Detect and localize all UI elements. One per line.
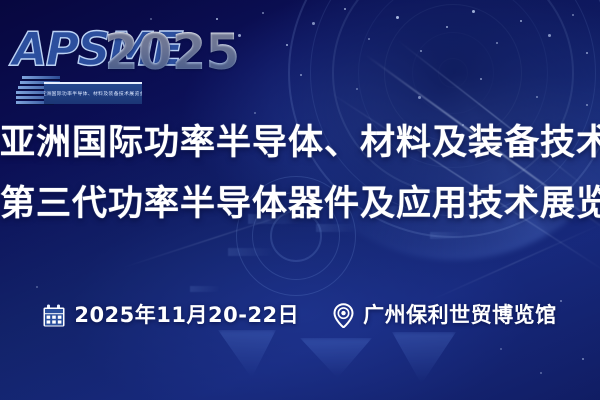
particle: [540, 372, 542, 374]
particle: [356, 88, 358, 90]
glow-wedge: [218, 330, 276, 378]
apsme-logo: APSME 2025 亚洲国际功率半导体、材料及装备技术展览会: [8, 24, 204, 108]
title-group: 亚洲国际功率半导体、材料及装备技术展览会 第三代功率半导体器件及应用技术展览会: [0, 126, 600, 222]
calendar-icon: [43, 304, 65, 327]
circuit-plate: [228, 248, 274, 256]
particle: [520, 20, 522, 22]
particle: [586, 52, 588, 54]
circuit-plate: [316, 224, 356, 232]
particle: [446, 26, 448, 28]
particle: [420, 50, 422, 52]
particle: [300, 74, 302, 76]
particle: [536, 96, 538, 98]
particle: [582, 358, 584, 360]
glow-wedge: [392, 332, 456, 384]
particle: [548, 34, 551, 37]
banner-title-line-2: 第三代功率半导体器件及应用技术展览会: [0, 187, 600, 222]
particle: [254, 112, 256, 114]
particle: [480, 78, 482, 80]
particle: [150, 18, 152, 20]
circuit-plate: [430, 232, 464, 239]
particle: [572, 14, 574, 16]
location-pin-icon: [333, 303, 354, 328]
event-date-item: 2025年11月20-22日: [43, 304, 299, 327]
particle: [36, 286, 38, 288]
logo-subtitle-text: 亚洲国际功率半导体、材料及装备技术展览会: [44, 92, 142, 97]
logo-subtitle-bar: 亚洲国际功率半导体、材料及装备技术展览会: [44, 82, 142, 104]
light-streak: [430, 223, 600, 301]
particle: [586, 104, 588, 106]
particle: [312, 22, 315, 25]
event-venue-item: 广州保利世贸博览馆: [333, 303, 557, 328]
particle: [396, 16, 399, 19]
particle: [216, 18, 218, 20]
particle: [262, 12, 264, 14]
particle: [496, 42, 498, 44]
event-date-text: 2025年11月20-22日: [74, 305, 299, 326]
logo-year: 2025: [104, 27, 239, 77]
event-info-row: 2025年11月20-22日 广州保利世贸博览馆: [0, 303, 600, 328]
particle: [368, 38, 370, 40]
particle: [560, 300, 562, 302]
event-venue-text: 广州保利世贸博览馆: [363, 305, 557, 326]
event-banner: APSME 2025 亚洲国际功率半导体、材料及装备技术展览会 亚洲国际功率半导…: [0, 0, 600, 400]
particle: [344, 8, 346, 10]
banner-title-line-1: 亚洲国际功率半导体、材料及装备技术展览会: [0, 126, 600, 161]
particle: [500, 348, 502, 350]
circuit-plate: [190, 286, 220, 292]
particle: [418, 96, 421, 99]
glow-wedge: [300, 338, 372, 378]
particle: [286, 44, 288, 46]
particle: [472, 10, 475, 13]
